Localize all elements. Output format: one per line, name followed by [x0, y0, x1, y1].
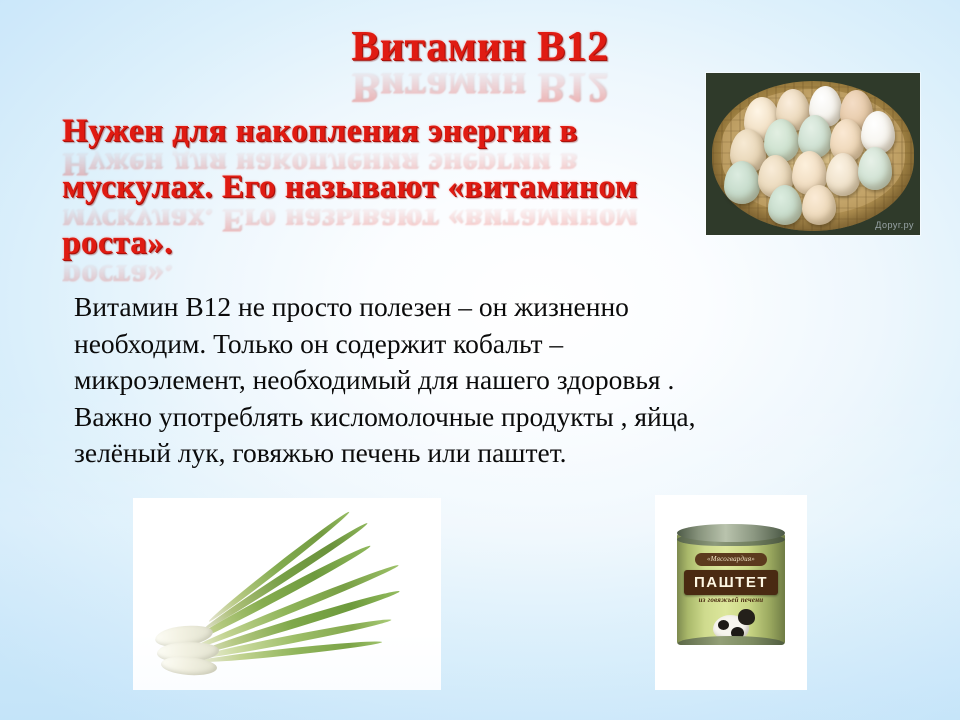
egg — [802, 185, 836, 225]
can-brand-text: «Мясогвардия» — [695, 553, 767, 566]
body-line-3: микроэлемент, необходимый для нашего здо… — [74, 362, 874, 399]
pate-can-photo: «Мясогвардия» ПАШТЕТ из говяжьей печени — [655, 495, 807, 690]
page-title-reflection: Витамин В12 — [351, 64, 608, 110]
can-bottom-rim — [677, 636, 785, 645]
can-shape: «Мясогвардия» ПАШТЕТ из говяжьей печени — [677, 524, 785, 654]
body-line-1: Витамин В12 не просто полезен – он жизне… — [74, 289, 874, 326]
photo-watermark: Доруг.ру — [875, 220, 914, 230]
body-paragraph: Витамин В12 не просто полезен – он жизне… — [74, 289, 874, 472]
cow-patch — [718, 620, 729, 630]
cow-head — [738, 609, 755, 625]
onion-stalk — [201, 520, 370, 633]
body-line-4: Важно употреблять кисломолочные продукты… — [74, 399, 874, 436]
body-line-2: необходим. Только он содержит кобальт – — [74, 326, 874, 363]
can-sublabel-text: из говяжьей печени — [687, 596, 775, 604]
eggs-in-basket-photo: Доруг.ру — [706, 73, 920, 235]
egg — [858, 147, 892, 190]
egg — [724, 161, 760, 204]
presentation-slide: Витамин В12 Витамин В12 Нужен для накопл… — [0, 0, 960, 720]
egg — [768, 185, 802, 225]
subtitle-line-3-reflection: роста». — [62, 257, 173, 295]
green-onion-photo — [133, 498, 441, 690]
body-line-5: зелёный лук, говяжью печень или паштет. — [74, 435, 874, 472]
egg — [826, 153, 860, 196]
can-label-text: ПАШТЕТ — [684, 570, 778, 595]
can-lid — [677, 524, 785, 542]
can-body: «Мясогвардия» ПАШТЕТ из говяжьей печени — [677, 533, 785, 645]
